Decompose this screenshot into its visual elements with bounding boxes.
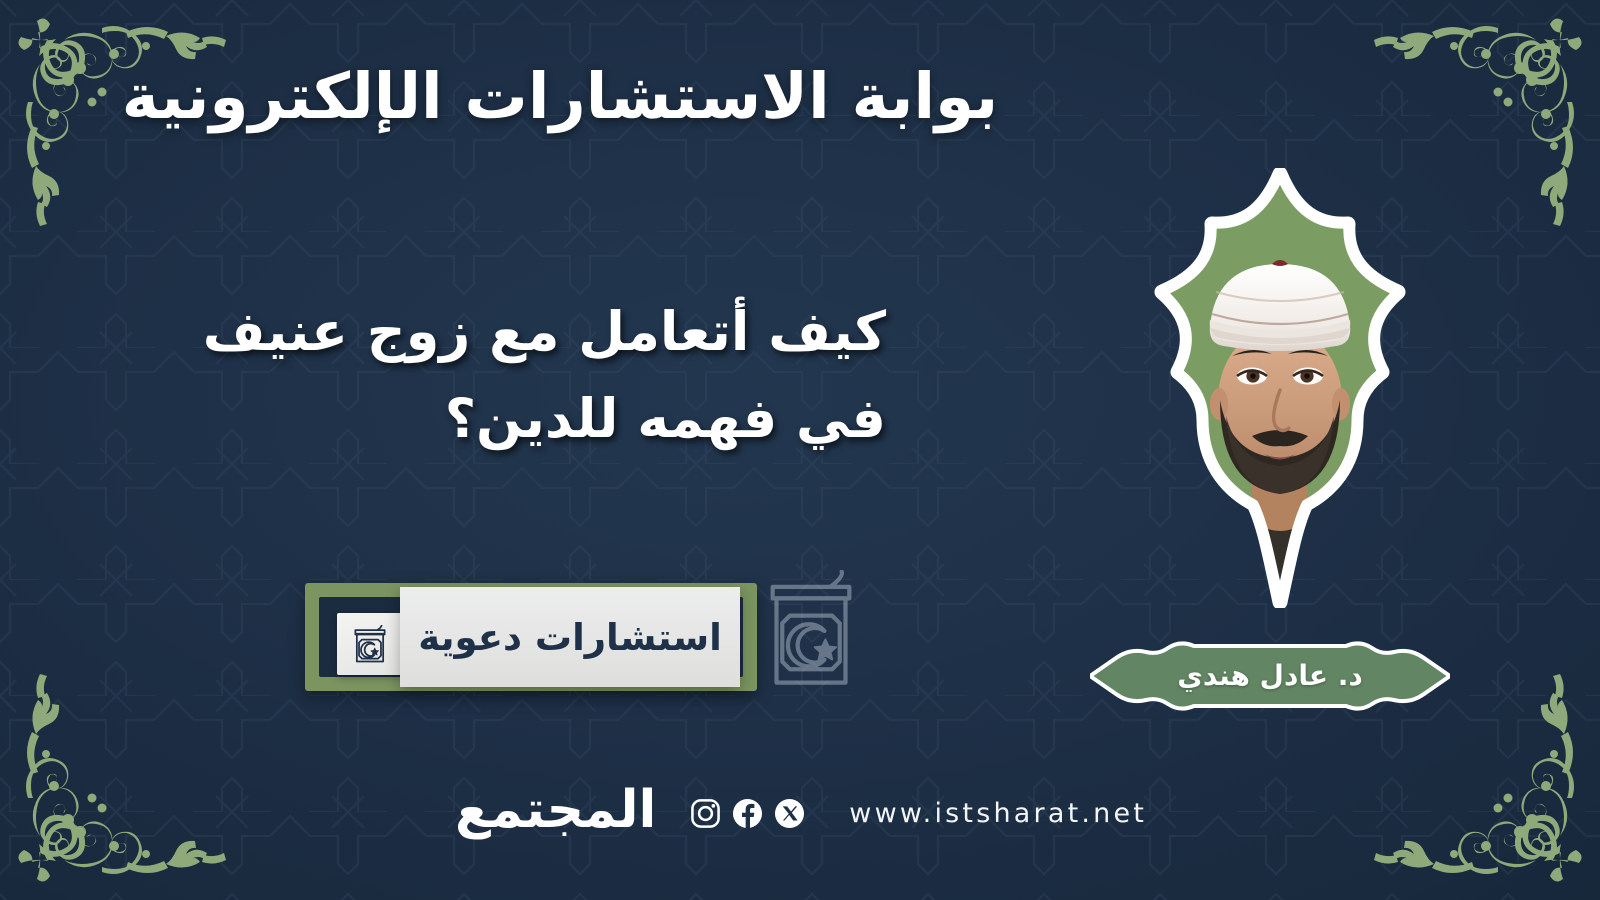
- scholar-name-badge: د. عادل هندي: [1090, 640, 1450, 712]
- page-title: بوابة الاستشارات الإلكترونية: [0, 58, 1120, 137]
- consultation-card: بوابة الاستشارات الإلكترونية كيف أتعامل …: [0, 0, 1600, 900]
- minbar-crescent-watermark-icon: [765, 570, 857, 688]
- footer: المجتمع www.istsharat.net: [455, 784, 1147, 842]
- question-line-2: في فهمه للدين؟: [186, 375, 886, 462]
- category-label-panel: استشارات دعوية: [400, 587, 740, 687]
- instagram-icon[interactable]: [690, 798, 721, 829]
- scholar-name: د. عادل هندي: [1090, 640, 1450, 712]
- corner-ornament-bottom-left: [6, 664, 236, 894]
- social-links: [690, 798, 805, 829]
- website-url[interactable]: www.istsharat.net: [849, 798, 1147, 829]
- brand-logo: المجتمع: [455, 784, 656, 842]
- question-text: كيف أتعامل مع زوج عنيف في فهمه للدين؟: [186, 288, 886, 463]
- category-banner[interactable]: استشارات دعوية: [305, 583, 757, 691]
- category-icon-box: [337, 613, 403, 675]
- portrait-scholar: [1060, 168, 1500, 608]
- x-twitter-icon[interactable]: [774, 798, 805, 829]
- minbar-crescent-icon: [352, 625, 388, 663]
- category-label: استشارات دعوية: [418, 616, 722, 659]
- facebook-icon[interactable]: [732, 798, 763, 829]
- question-line-1: كيف أتعامل مع زوج عنيف: [186, 288, 886, 375]
